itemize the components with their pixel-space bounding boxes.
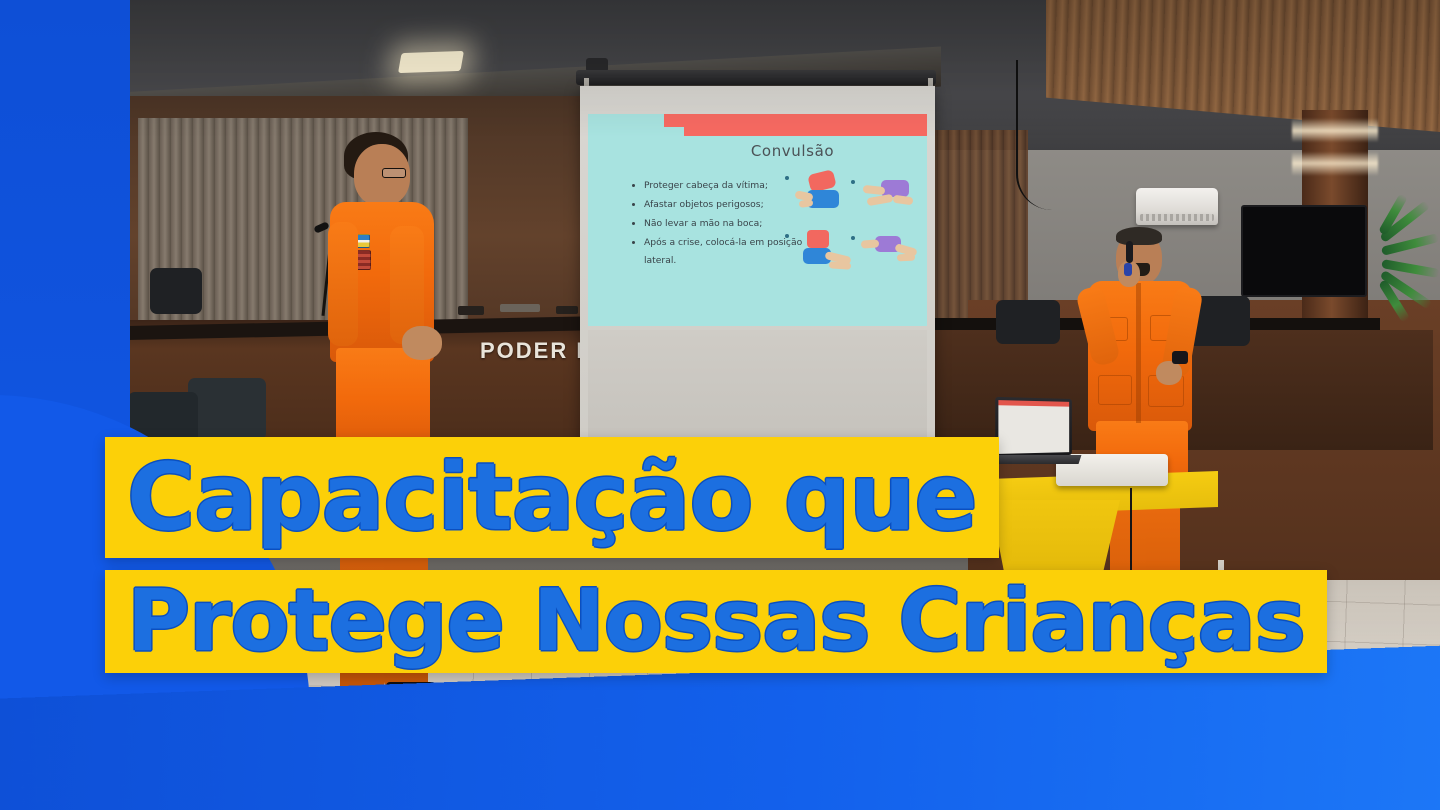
headline-text-line-1: Capacitação que	[127, 455, 977, 541]
wristwatch	[1172, 351, 1188, 364]
slide-accent-bar-lower	[684, 127, 927, 136]
arm-left	[328, 222, 358, 346]
promo-graphic: PODER LE Convulsão Prot	[0, 0, 1440, 810]
slide-title: Convulsão	[588, 142, 927, 160]
laptop-slide-accent	[998, 400, 1069, 407]
desk-object	[556, 306, 578, 314]
eyeglasses	[382, 168, 406, 178]
desk-object	[500, 304, 540, 312]
figure-limb	[867, 194, 894, 206]
headline-banner-line-1: Capacitação que	[105, 437, 999, 558]
office-chair	[188, 378, 266, 440]
figure-limb	[861, 239, 880, 248]
wall-sconce-light	[1292, 118, 1378, 176]
presentation-slide: Convulsão Proteger cabeça da vítima; Afa…	[588, 114, 927, 326]
figure-limb	[893, 195, 914, 206]
microphone	[1126, 241, 1133, 263]
slide-accent-bar	[664, 114, 927, 127]
first-aid-figure	[793, 170, 851, 230]
wall-mounted-tv	[1241, 205, 1367, 297]
uniform-placket	[1136, 283, 1141, 423]
figure-dot	[851, 236, 855, 240]
microphone-grip	[1124, 263, 1132, 276]
ceiling-cable	[1016, 60, 1052, 210]
first-aid-figure	[859, 174, 917, 234]
figure-limb	[829, 261, 851, 270]
hair	[1116, 227, 1162, 245]
figure-dot	[785, 234, 789, 238]
figure-limb	[863, 185, 886, 195]
projection-screen: Convulsão Proteger cabeça da vítima; Afa…	[580, 86, 935, 464]
screen-top-bar	[576, 70, 936, 85]
headline-text-line-2: Protege Nossas Crianças	[127, 582, 1305, 661]
figure-dot	[851, 180, 855, 184]
hands-clasped	[402, 326, 442, 360]
figure-dot	[785, 176, 789, 180]
figure-limb	[897, 254, 915, 262]
office-chair	[150, 268, 202, 314]
ceiling-light	[398, 51, 464, 73]
laptop-keyboard-base	[987, 455, 1082, 464]
hand-gesturing	[1156, 361, 1182, 385]
hip-pocket-left	[1098, 375, 1132, 405]
figure-torso	[807, 230, 829, 248]
headline-banner-line-2: Protege Nossas Crianças	[105, 570, 1327, 673]
office-chair	[996, 300, 1060, 344]
laptop-display	[998, 400, 1069, 454]
slide-illustrations	[791, 170, 919, 310]
ac-vent	[1140, 214, 1214, 221]
first-aid-figure	[859, 230, 917, 290]
first-aid-figure	[793, 228, 851, 288]
air-conditioner	[1136, 188, 1218, 225]
laptop	[995, 397, 1072, 457]
